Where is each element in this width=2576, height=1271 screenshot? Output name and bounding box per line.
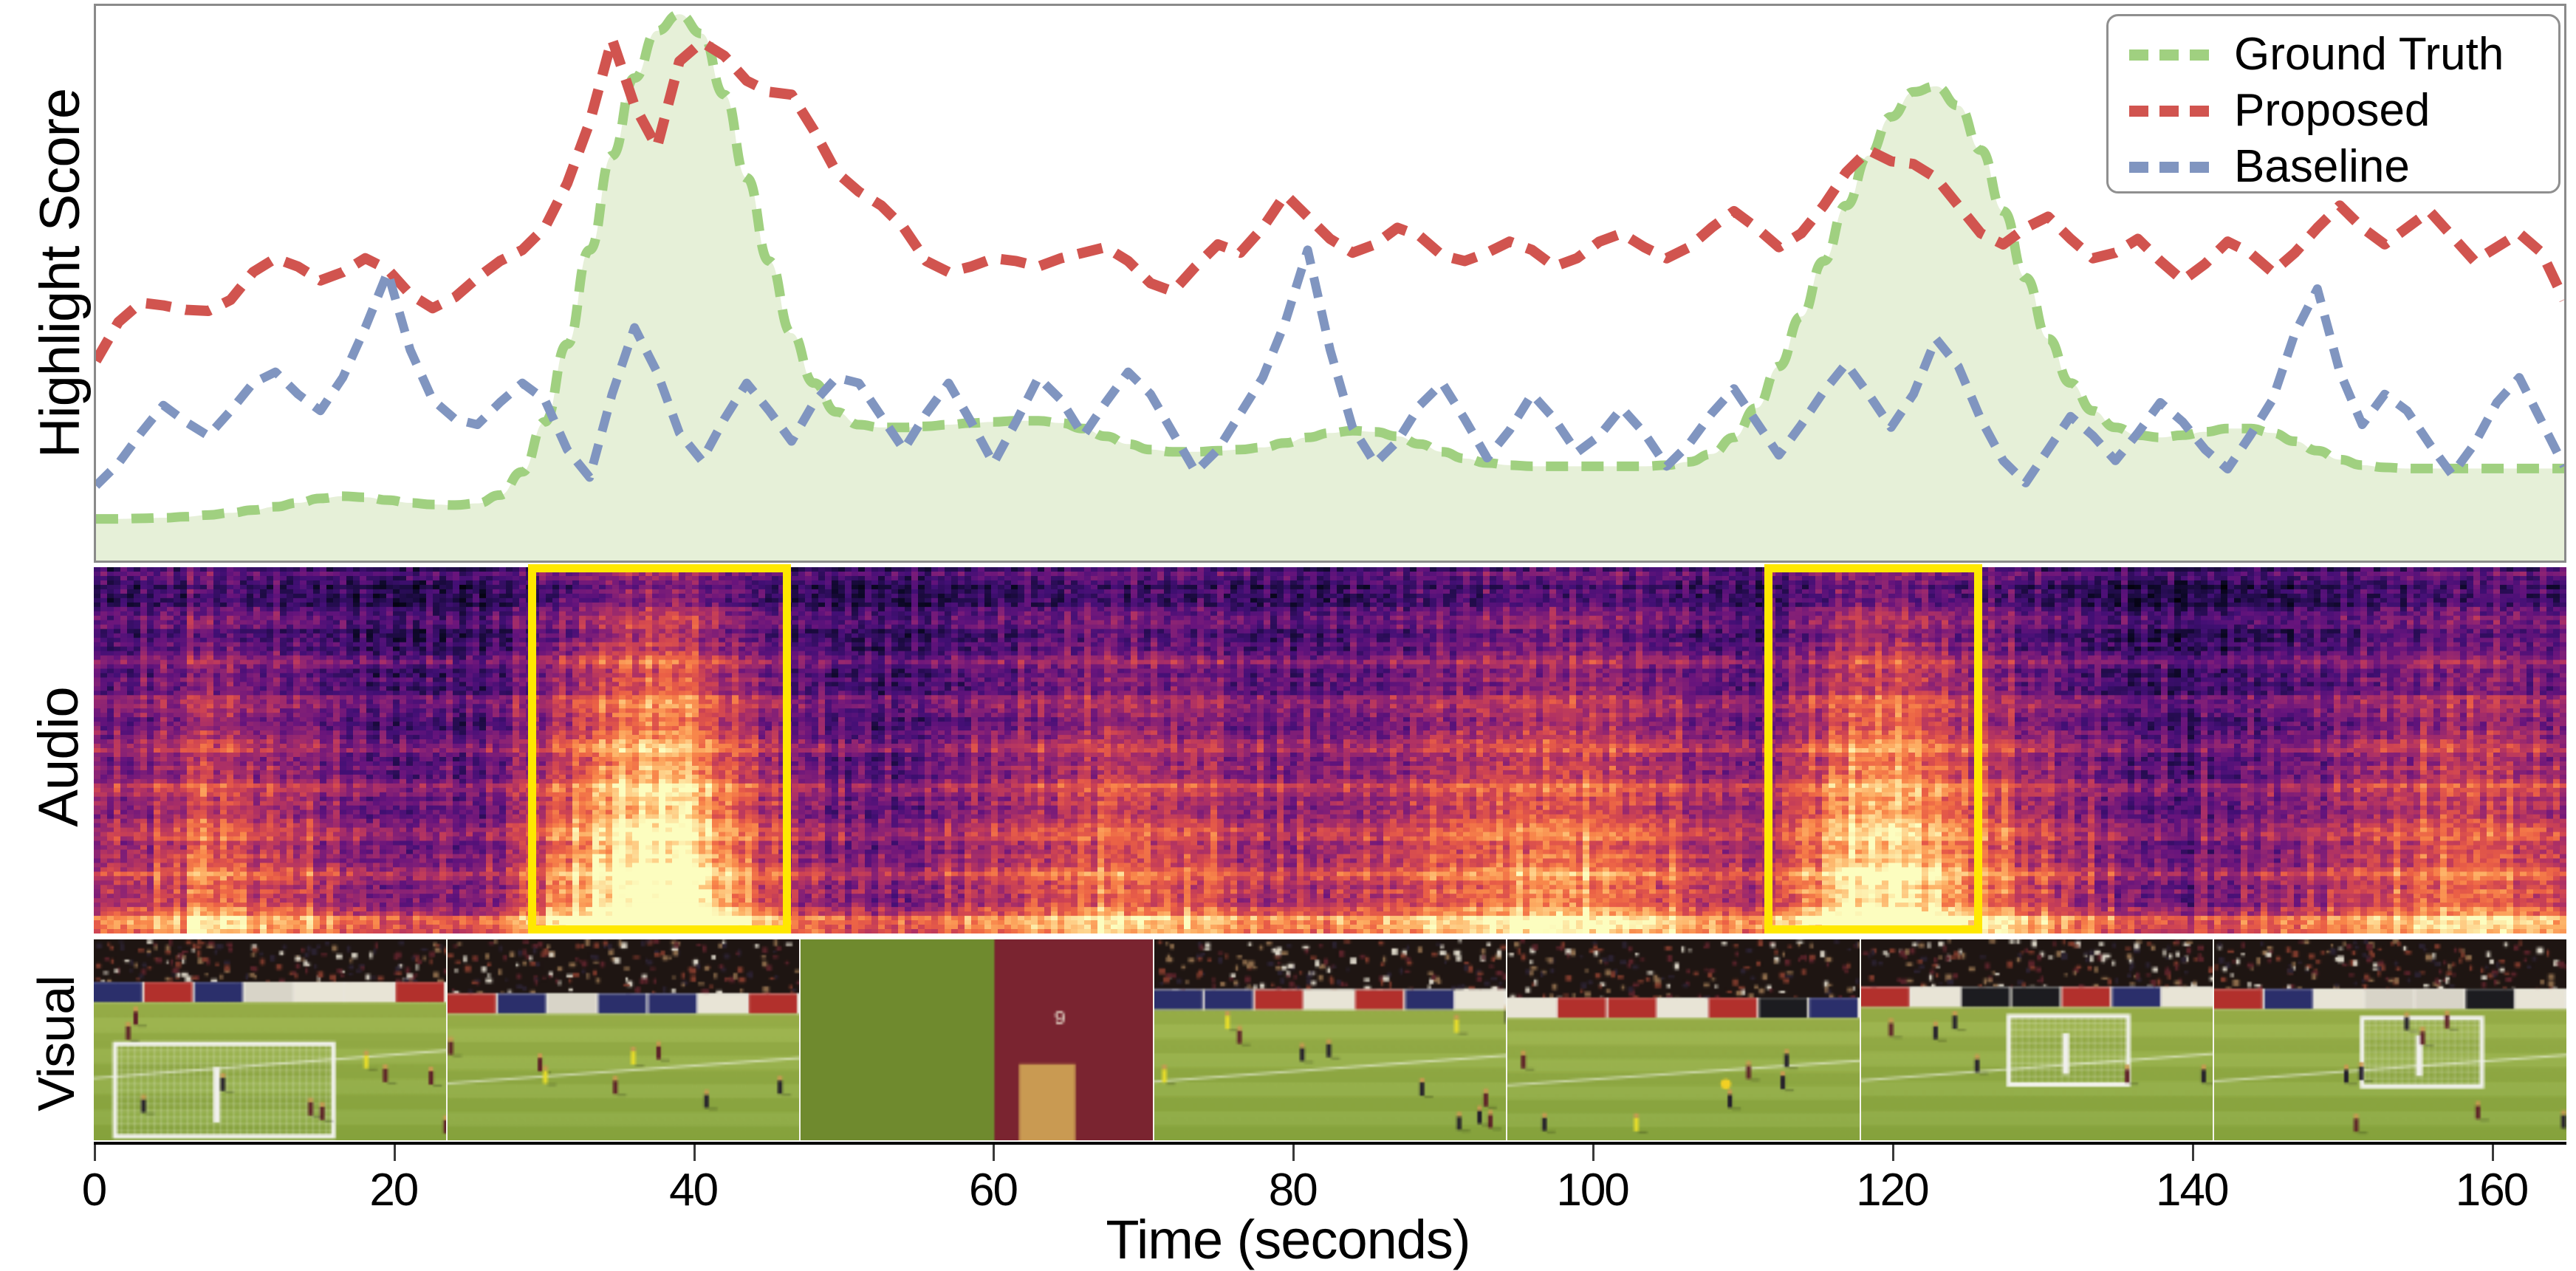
figure-root: Highlight Score Audio Visual Ground Trut…	[0, 0, 2576, 1269]
legend-swatch-proposed	[2129, 106, 2209, 117]
video-frame-5	[1507, 939, 1861, 1140]
x-tick-20	[394, 1145, 396, 1161]
row-label-visual: Visual	[28, 911, 84, 1176]
legend-swatch-ground-truth	[2129, 49, 2209, 61]
audio-spectrogram	[94, 567, 2566, 933]
x-tick-60	[993, 1145, 995, 1161]
legend-swatch-baseline	[2129, 162, 2209, 173]
video-frame-7	[2214, 939, 2566, 1140]
legend-label-baseline: Baseline	[2234, 141, 2410, 193]
spectrogram-canvas	[94, 567, 2566, 933]
x-axis-line	[94, 1142, 2566, 1145]
x-tick-120	[1892, 1145, 1894, 1161]
y-axis-label-highlight-score: Highlight Score	[31, 15, 90, 532]
legend-item-ground-truth: Ground Truth	[2109, 27, 2558, 83]
visual-filmstrip	[94, 939, 2566, 1140]
video-frame-6	[1861, 939, 2215, 1140]
x-tick-80	[1292, 1145, 1295, 1161]
x-tick-40	[693, 1145, 696, 1161]
video-frame-4	[1154, 939, 1508, 1140]
video-frame-1	[94, 939, 448, 1140]
legend-item-baseline: Baseline	[2109, 139, 2558, 195]
legend-label-proposed: Proposed	[2234, 85, 2430, 137]
video-frame-3	[801, 939, 1154, 1140]
legend-item-proposed: Proposed	[2109, 83, 2558, 139]
x-tick-140	[2192, 1145, 2194, 1161]
legend: Ground Truth Proposed Baseline	[2106, 14, 2560, 193]
x-axis-title: Time (seconds)	[0, 1208, 2576, 1271]
x-tick-160	[2492, 1145, 2494, 1161]
x-tick-0	[94, 1145, 96, 1161]
video-frame-2	[448, 939, 801, 1140]
legend-label-ground-truth: Ground Truth	[2234, 29, 2504, 80]
row-label-audio: Audio	[30, 624, 89, 890]
x-tick-100	[1592, 1145, 1594, 1161]
